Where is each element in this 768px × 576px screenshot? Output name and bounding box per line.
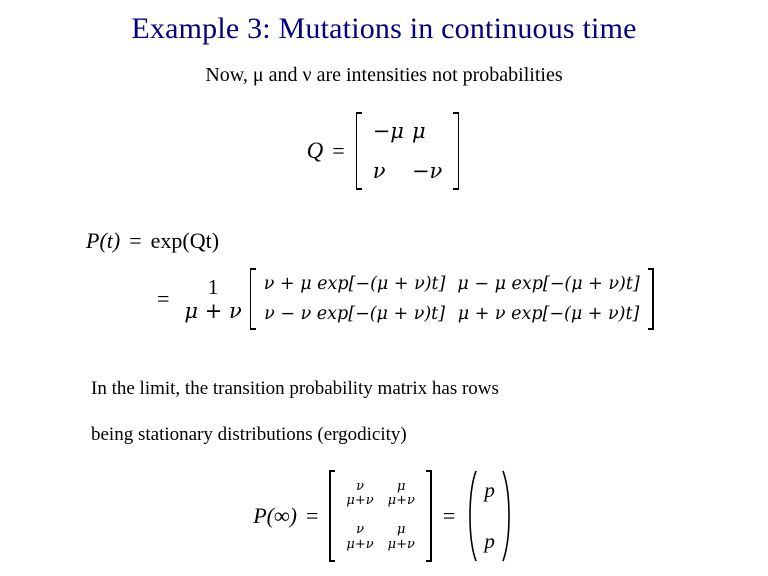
cell-denominator: μ+ν [388,538,415,553]
generator-matrix-label: Q [307,138,324,164]
equals-sign-second: = [434,503,464,529]
cell-denominator: μ+ν [346,494,373,509]
scalar-denominator: μ + ν [184,299,241,323]
right-square-bracket [452,112,461,190]
cell-numerator: μ [397,480,405,495]
left-parenthesis [464,470,478,562]
right-square-bracket [425,470,434,562]
matrix-cell-r1c0: ν μ+ν [346,523,373,552]
equals-sign-first: = [297,503,327,529]
matrix-cell-r0c0: ν + μ exp[−(μ + ν)t] [264,274,446,294]
transition-solution-matrix-body: ν + μ exp[−(μ + ν)t] μ − μ exp[−(μ + ν)t… [257,268,647,330]
slide-canvas: Example 3: Mutations in continuous time … [0,0,768,576]
scalar-prefactor: 1 μ + ν [178,275,247,323]
vector-cell-0: p [484,478,495,503]
matrix-cell-r1c0: ν [373,159,386,183]
transition-definition-equation: P(t) = exp(Qt) [86,228,219,254]
generator-matrix-body: −μ μ ν −ν [363,112,453,190]
left-square-bracket [354,112,363,190]
matrix-cell-r1c1: μ + ν exp[−(μ + ν)t] [458,304,640,324]
matrix-cell-r0c1: μ μ+ν [388,480,415,509]
right-square-bracket [647,268,656,330]
cell-denominator: μ+ν [346,538,373,553]
matrix-cell-r0c1: μ [412,119,426,143]
left-square-bracket [248,268,257,330]
prose-line-1: In the limit, the transition probability… [91,378,499,400]
stationary-matrix-body: ν μ+ν μ μ+ν ν μ+ν μ μ+ν [336,472,425,560]
cell-numerator: ν [356,480,364,495]
stationary-distribution-equation: P(∞) = ν μ+ν μ μ+ν ν μ+ν μ μ+ν = [0,470,768,562]
cell-numerator: μ [397,523,405,538]
matrix-cell-r1c1: μ μ+ν [388,523,415,552]
matrix-cell-r0c0: ν μ+ν [346,480,373,509]
cell-denominator: μ+ν [388,494,415,509]
prose-line-2: being stationary distributions (ergodici… [91,424,407,446]
equals-sign: = [148,286,178,312]
cell-numerator: ν [356,523,364,538]
matrix-cell-r0c0: −μ [373,119,404,143]
generator-matrix-equation: Q = −μ μ ν −ν [0,112,768,190]
transition-rhs: exp(Qt) [151,228,219,254]
transition-solution-equation: = 1 μ + ν ν + μ exp[−(μ + ν)t] μ − μ exp… [148,268,656,330]
vector-cell-1: p [484,529,495,554]
scalar-numerator: 1 [208,275,219,299]
page-title: Example 3: Mutations in continuous time [0,12,768,46]
transition-lhs: P(t) [86,228,120,254]
stationary-vector-body: p p [478,470,501,562]
right-parenthesis [501,470,515,562]
stationary-label: P(∞) [253,503,297,529]
matrix-cell-r0c1: μ − μ exp[−(μ + ν)t] [457,274,639,294]
equals-sign: = [120,228,150,254]
subtitle-text: Now, μ and ν are intensities not probabi… [0,64,768,87]
equals-sign: = [323,138,353,164]
matrix-cell-r1c1: −ν [412,159,442,183]
matrix-cell-r1c0: ν − ν exp[−(μ + ν)t] [264,304,445,324]
left-square-bracket [327,470,336,562]
